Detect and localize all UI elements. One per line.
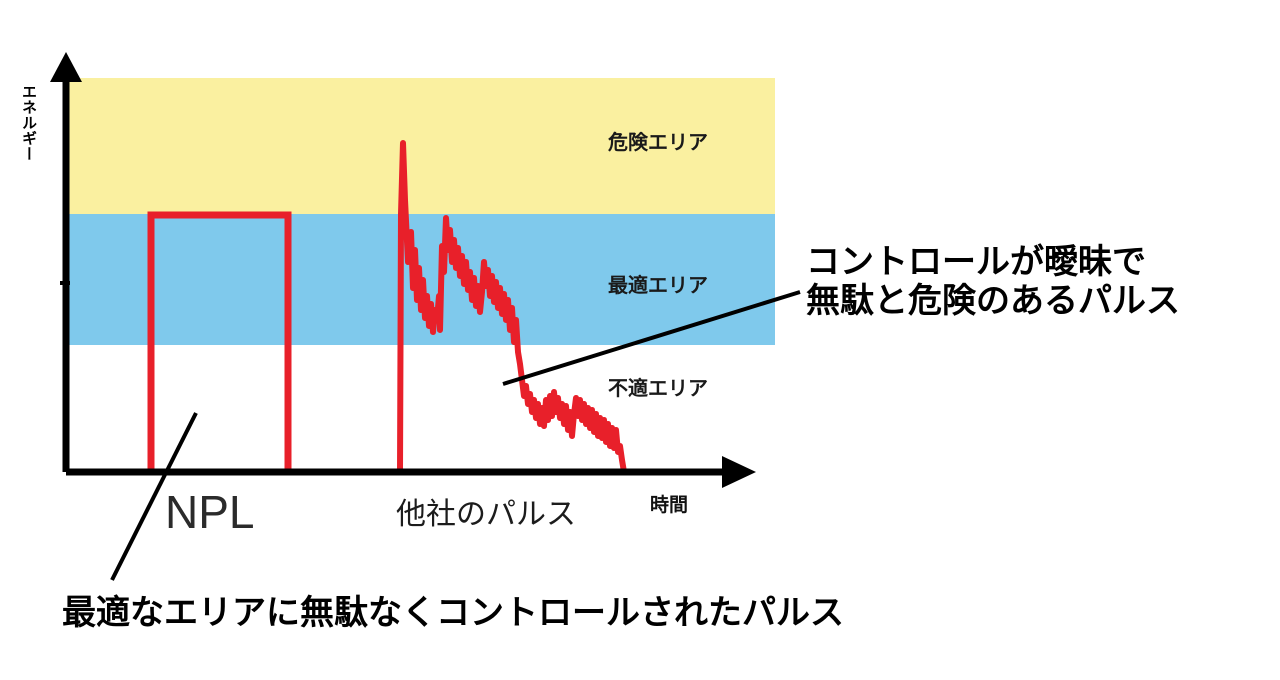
series-label-other-company: 他社のパルス (396, 489, 576, 533)
x-axis-label: 時間 (650, 490, 688, 517)
zone-label-unfit: 不適エリア (608, 372, 708, 401)
energy-vs-time-diagram (0, 0, 1280, 680)
zone-label-optimal: 最適エリア (608, 269, 708, 298)
callout-text-right: コントロールが曖昧で 無駄と危険のあるパルス (806, 243, 1180, 321)
callout-right-line-2: 無駄と危険のあるパルス (806, 282, 1180, 321)
callout-right-line-1: コントロールが曖昧で (806, 243, 1180, 282)
y-axis-label: エネルギー (14, 84, 36, 162)
series-label-npl: NPL (165, 485, 254, 539)
figure-canvas: エネルギー 時間 危険エリア 最適エリア 不適エリア NPL 他社のパルス コン… (0, 0, 1280, 680)
callout-text-bottom: 最適なエリアに無駄なくコントロールされたパルス (62, 585, 844, 634)
zone-band-unfit (66, 345, 775, 472)
zone-label-danger: 危険エリア (608, 126, 708, 155)
y-axis-arrow-icon (50, 52, 82, 82)
